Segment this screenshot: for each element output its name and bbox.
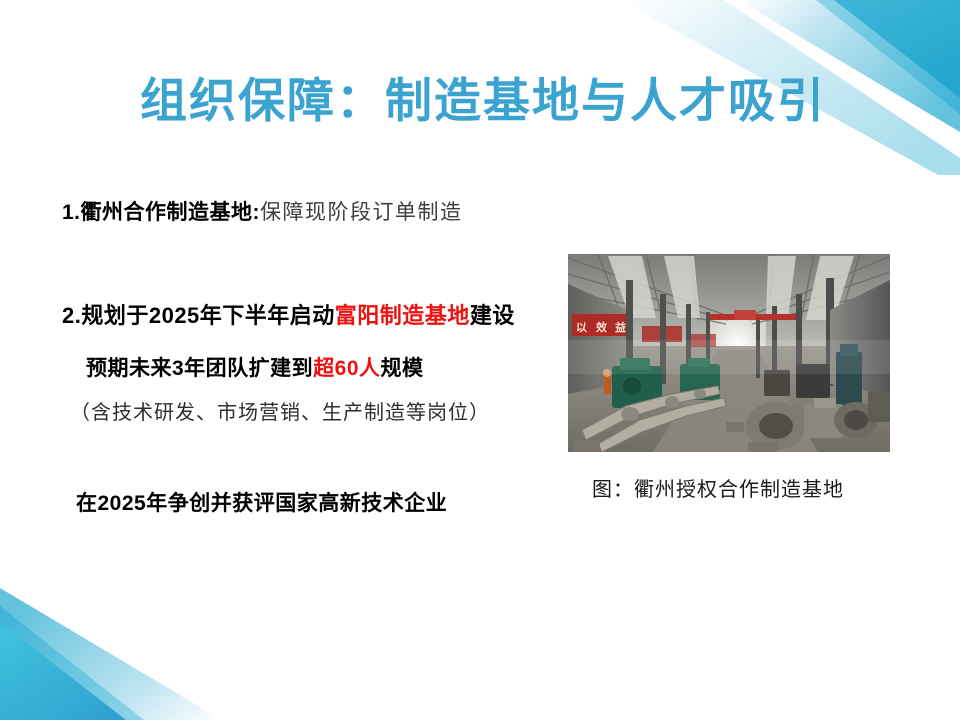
bullet-point-2: 2.规划于2025年下半年启动富阳制造基地建设	[62, 298, 515, 330]
sub-1-suffix: 规模	[381, 357, 424, 380]
svg-text:益: 益	[615, 320, 626, 334]
sub-1-prefix: 预期未来3年团队扩建到	[86, 357, 313, 380]
factory-workshop-photo: 以 效 益	[568, 254, 890, 452]
svg-text:效: 效	[596, 320, 608, 334]
bullet-point-2-suffix: 建设	[470, 303, 515, 328]
photo-caption: 图：衢州授权合作制造基地	[592, 473, 844, 502]
slide-canvas: 组织保障：制造基地与人才吸引 1.衢州合作制造基地:保障现阶段订单制造 2.规划…	[0, 0, 960, 720]
svg-text:以: 以	[576, 321, 587, 334]
bullet-point-2-sub-1: 预期未来3年团队扩建到超60人规模	[86, 352, 424, 382]
bullet-point-1-detail: 保障现阶段订单制造	[260, 201, 463, 224]
bullet-point-2-sub-2: （含技术研发、市场营销、生产制造等岗位）	[70, 396, 490, 425]
bullet-point-1-label: 1.衢州合作制造基地:	[62, 201, 260, 224]
sub-1-highlight: 超60人	[313, 357, 380, 380]
bullet-point-3: 在2025年争创并获评国家高新技术企业	[76, 487, 447, 517]
bullet-point-2-highlight: 富阳制造基地	[335, 303, 470, 328]
bullet-point-1: 1.衢州合作制造基地:保障现阶段订单制造	[62, 196, 463, 226]
page-title: 组织保障：制造基地与人才吸引	[140, 62, 826, 131]
bottom-left-diagonal-decoration	[0, 545, 340, 720]
bullet-point-2-prefix: 2.规划于2025年下半年启动	[62, 303, 335, 328]
